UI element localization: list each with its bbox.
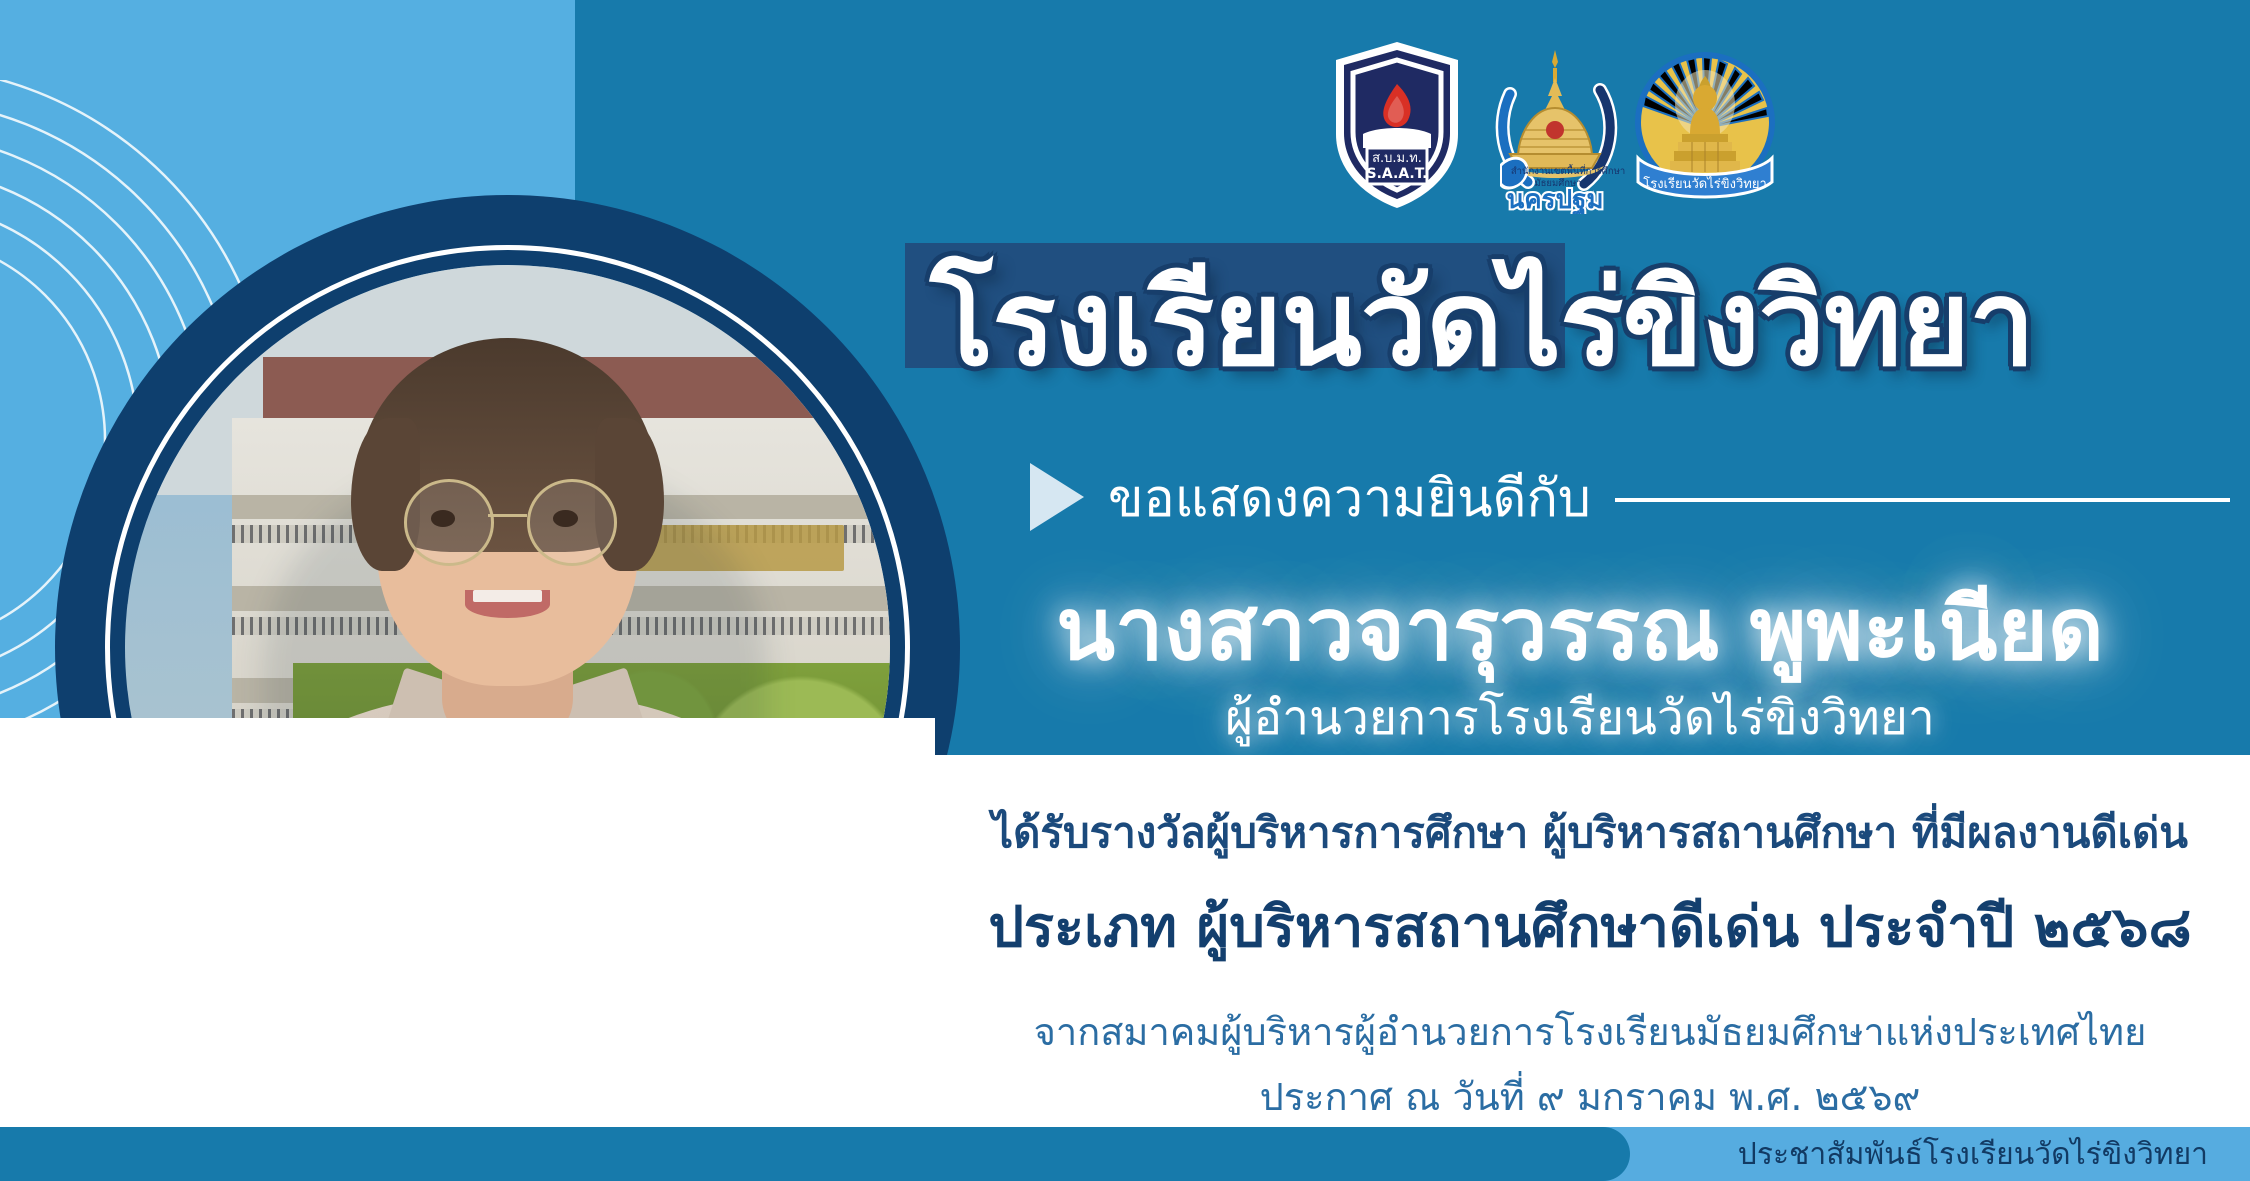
play-triangle-icon xyxy=(1030,463,1084,531)
honoree-role: ผู้อำนวยการโรงเรียนวัดไร่ขิงวิทยา xyxy=(930,680,2230,756)
congratulation-row: ขอแสดงความยินดีกับ xyxy=(1030,462,2230,532)
saat-shield-logo: ส.บ.ม.ท. S.A.A.T. xyxy=(1330,38,1465,213)
award-line-3: จากสมาคมผู้บริหารผู้อำนวยการโรงเรียนมัธย… xyxy=(930,1001,2250,1062)
svg-text:สำนักงานเขตพื้นที่การศึกษา: สำนักงานเขตพื้นที่การศึกษา xyxy=(1511,164,1625,177)
logo-row: ส.บ.ม.ท. S.A.A.T. xyxy=(1330,38,1760,218)
award-details: ได้รับรางวัลผู้บริหารการศึกษา ผู้บริหารส… xyxy=(930,800,2250,1127)
footer-credit: ประชาสัมพันธ์โรงเรียนวัดไร่ขิงวิทยา xyxy=(1738,1127,2208,1181)
award-line-1: ได้รับรางวัลผู้บริหารการศึกษา ผู้บริหารส… xyxy=(930,800,2250,866)
congratulation-label: ขอแสดงความยินดีกับ xyxy=(1108,456,1591,539)
svg-text:โรงเรียนวัดไร่ขิงวิทยา: โรงเรียนวัดไร่ขิงวิทยา xyxy=(1643,176,1767,192)
honoree-name: นางสาวจารุวรรณ พูพะเนียด xyxy=(930,560,2230,697)
congratulation-poster: ส.บ.ม.ท. S.A.A.T. xyxy=(0,0,2250,1181)
watraiking-school-logo: โรงเรียนวัดไร่ขิงวิทยา xyxy=(1630,42,1780,214)
award-line-2: ประเภท ผู้บริหารสถานศึกษาดีเด่น ประจำปี … xyxy=(930,882,2250,971)
svg-text:ส.บ.ม.ท.: ส.บ.ม.ท. xyxy=(1372,151,1422,166)
page-title: โรงเรียนวัดไร่ขิงวิทยา xyxy=(930,262,2220,386)
award-line-4: ประกาศ ณ วันที่ ๙ มกราคม พ.ศ. ๒๕๖๙ xyxy=(930,1066,2250,1127)
footer-dark-band xyxy=(0,1127,1630,1181)
svg-text:นครปฐม: นครปฐม xyxy=(1506,185,1603,214)
svg-text:S.A.A.T.: S.A.A.T. xyxy=(1367,166,1428,182)
spm-nakhonpathom-logo: สำนักงานเขตพื้นที่การศึกษา มัธยมศึกษา นค… xyxy=(1480,46,1630,214)
congratulation-divider xyxy=(1615,498,2230,502)
